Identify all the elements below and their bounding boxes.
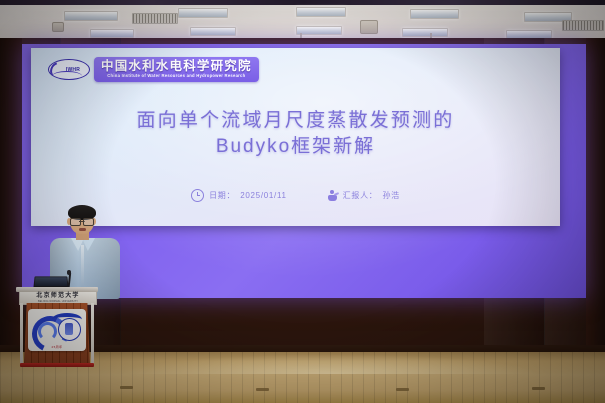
ceiling-light: [410, 9, 459, 19]
floor-inset: [120, 386, 133, 389]
ceiling-light: [64, 11, 118, 21]
laptop-screen: [35, 277, 68, 286]
logo-text: IWHR: [66, 67, 80, 73]
floor-inset: [256, 388, 269, 391]
ceiling-speaker: [52, 22, 64, 32]
ceiling-light: [190, 27, 236, 36]
floor-inset: [396, 388, 409, 391]
slide-date: 日期： 2025/01/11: [191, 189, 287, 202]
slide-meta-row: 日期： 2025/01/11 汇报人： 孙浩: [31, 189, 560, 202]
podium-name-cn: 北京师范大学: [36, 293, 79, 300]
glasses-icon: [70, 218, 94, 224]
slide-presenter: 汇报人： 孙浩: [327, 190, 400, 201]
podium-leg-left: [20, 303, 23, 365]
ceiling-light: [178, 8, 228, 18]
emblem-seal: [58, 318, 81, 341]
presenter-value: 孙浩: [382, 190, 399, 201]
anniversary-emblem: 25周年: [28, 309, 86, 351]
ceiling-vent: [562, 20, 604, 31]
presentation-slide: IWHR 中国水利水电科学研究院 China Institute of Wate…: [31, 48, 560, 226]
floor-inset: [532, 387, 545, 390]
presenter-label: 汇报人：: [343, 190, 378, 201]
podium-base: [20, 363, 94, 367]
speaker-mouth: [79, 228, 86, 231]
ceiling: [0, 0, 605, 40]
person-icon: [327, 190, 338, 201]
floor-light-glow: [120, 354, 540, 374]
ceiling-light: [296, 7, 346, 17]
date-value: 2025/01/11: [240, 191, 286, 200]
title-line-1: 面向单个流域月尺度蒸散发预测的: [31, 108, 560, 134]
ceiling-light: [296, 26, 342, 35]
clock-icon: [191, 189, 204, 202]
slide-header: IWHR 中国水利水电科学研究院 China Institute of Wate…: [48, 57, 259, 82]
wall-edge-right: [586, 38, 605, 358]
ceiling-vent: [132, 13, 178, 24]
podium-nameplate: 北京师范大学 BEIJING NORMAL UNIVERSITY: [19, 291, 97, 305]
iwhr-logo-icon: IWHR: [48, 59, 90, 80]
title-line-2: Budyko框架新解: [31, 134, 560, 160]
slide-title: 面向单个流域月尺度蒸散发预测的 Budyko框架新解: [31, 108, 560, 160]
ceiling-top-strip: [0, 0, 605, 5]
org-name-cn: 中国水利水电科学研究院: [101, 60, 252, 73]
ceiling-light: [402, 28, 448, 37]
org-name-pill: 中国水利水电科学研究院 China Institute of Water Res…: [94, 57, 259, 82]
presentation-photo: IWHR 中国水利水电科学研究院 China Institute of Wate…: [0, 0, 605, 403]
podium: 北京师范大学 BEIJING NORMAL UNIVERSITY 25周年: [16, 287, 98, 367]
microphone-icon: [67, 270, 71, 275]
date-label: 日期：: [209, 190, 235, 201]
podium-name-en: BEIJING NORMAL UNIVERSITY: [38, 300, 78, 303]
ceiling-light: [90, 29, 134, 38]
ceiling-speaker: [360, 20, 378, 34]
org-name-en: China Institute of Water Resources and H…: [107, 73, 245, 79]
podium-leg-right: [91, 303, 94, 365]
emblem-text: 25周年: [28, 345, 86, 349]
